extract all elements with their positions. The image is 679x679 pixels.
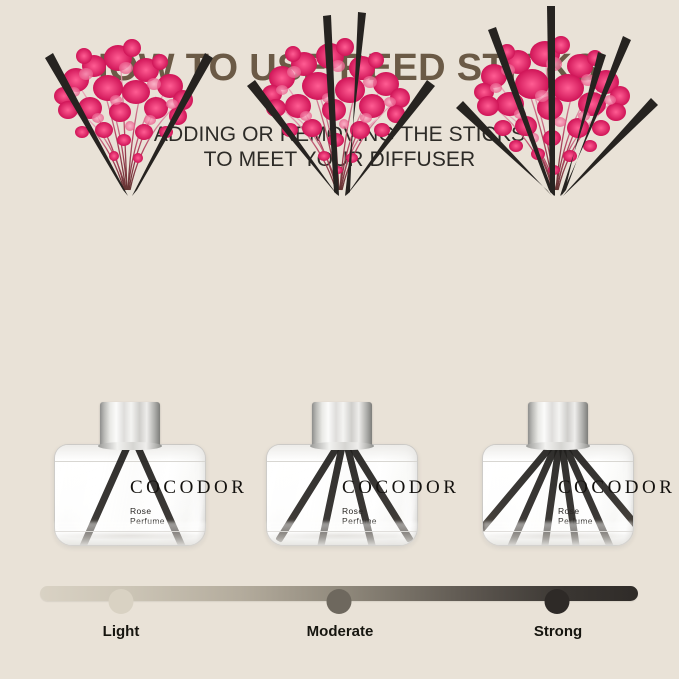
slider-knob-light[interactable] (109, 589, 134, 614)
slider-knob-strong[interactable] (544, 589, 569, 614)
slider-label-moderate: Moderate (307, 623, 374, 640)
slider-label-strong: Strong (534, 623, 582, 640)
slider-track[interactable] (40, 586, 638, 601)
bottle-reflection (55, 522, 205, 552)
slider-label-light: Light (103, 623, 140, 640)
infographic-canvas: HOW TO USE REED STICKS ADDING OR REMOVIN… (0, 0, 679, 679)
bottle-reflection (483, 522, 633, 552)
bottle-reflection (267, 522, 417, 552)
slider-knob-moderate[interactable] (327, 589, 352, 614)
intensity-slider[interactable]: Light Moderate Strong (0, 578, 679, 648)
bottle-cap (100, 402, 160, 446)
bottle-cap (312, 402, 372, 446)
bottle-cap (528, 402, 588, 446)
